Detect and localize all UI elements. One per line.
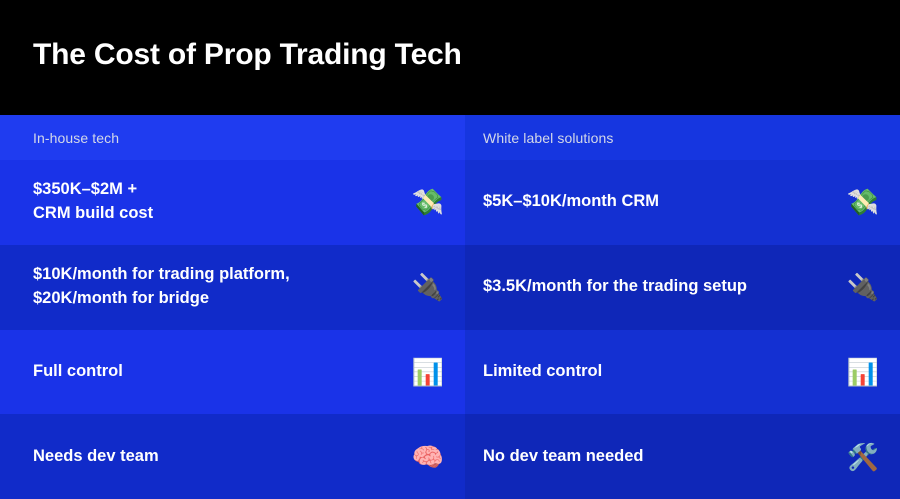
column-header-in-house: In-house tech (0, 115, 465, 160)
cell-text: $350K–$2M + CRM build cost (33, 178, 153, 226)
cell-text: $10K/month for trading platform, $20K/mo… (33, 263, 290, 311)
table-row: Full control 📊 Limited control 📊 (0, 330, 900, 415)
money-with-wings-icon: 💸 (846, 189, 880, 215)
bar-chart-icon: 📊 (846, 359, 880, 385)
table-row: $10K/month for trading platform, $20K/mo… (0, 245, 900, 330)
electric-plug-icon: 🔌 (411, 274, 445, 300)
table-cell-white-label: No dev team needed 🛠️ (465, 414, 900, 499)
table-cell-in-house: $10K/month for trading platform, $20K/mo… (0, 245, 465, 330)
electric-plug-icon: 🔌 (846, 274, 880, 300)
cell-text: $3.5K/month for the trading setup (483, 275, 747, 299)
table-row: Needs dev team 🧠 No dev team needed 🛠️ (0, 414, 900, 499)
title-bar: The Cost of Prop Trading Tech (0, 0, 900, 115)
brain-icon: 🧠 (411, 444, 445, 470)
column-header-white-label: White label solutions (465, 115, 900, 160)
cell-text: Full control (33, 360, 123, 384)
column-header-label: White label solutions (483, 130, 614, 146)
page-title: The Cost of Prop Trading Tech (33, 38, 462, 72)
column-header-label: In-house tech (33, 130, 119, 146)
table-cell-white-label: Limited control 📊 (465, 330, 900, 415)
table-cell-white-label: $5K–$10K/month CRM 💸 (465, 160, 900, 245)
comparison-table: In-house tech White label solutions $350… (0, 115, 900, 499)
table-header-row: In-house tech White label solutions (0, 115, 900, 160)
cell-text: No dev team needed (483, 445, 643, 469)
slide-canvas: The Cost of Prop Trading Tech In-house t… (0, 0, 900, 499)
table-cell-in-house: $350K–$2M + CRM build cost 💸 (0, 160, 465, 245)
bar-chart-icon: 📊 (411, 359, 445, 385)
table-cell-in-house: Full control 📊 (0, 330, 465, 415)
hammer-and-wrench-icon: 🛠️ (846, 444, 880, 470)
table-cell-white-label: $3.5K/month for the trading setup 🔌 (465, 245, 900, 330)
money-with-wings-icon: 💸 (411, 189, 445, 215)
cell-text: $5K–$10K/month CRM (483, 190, 659, 214)
cell-text: Needs dev team (33, 445, 159, 469)
table-cell-in-house: Needs dev team 🧠 (0, 414, 465, 499)
table-row: $350K–$2M + CRM build cost 💸 $5K–$10K/mo… (0, 160, 900, 245)
cell-text: Limited control (483, 360, 602, 384)
